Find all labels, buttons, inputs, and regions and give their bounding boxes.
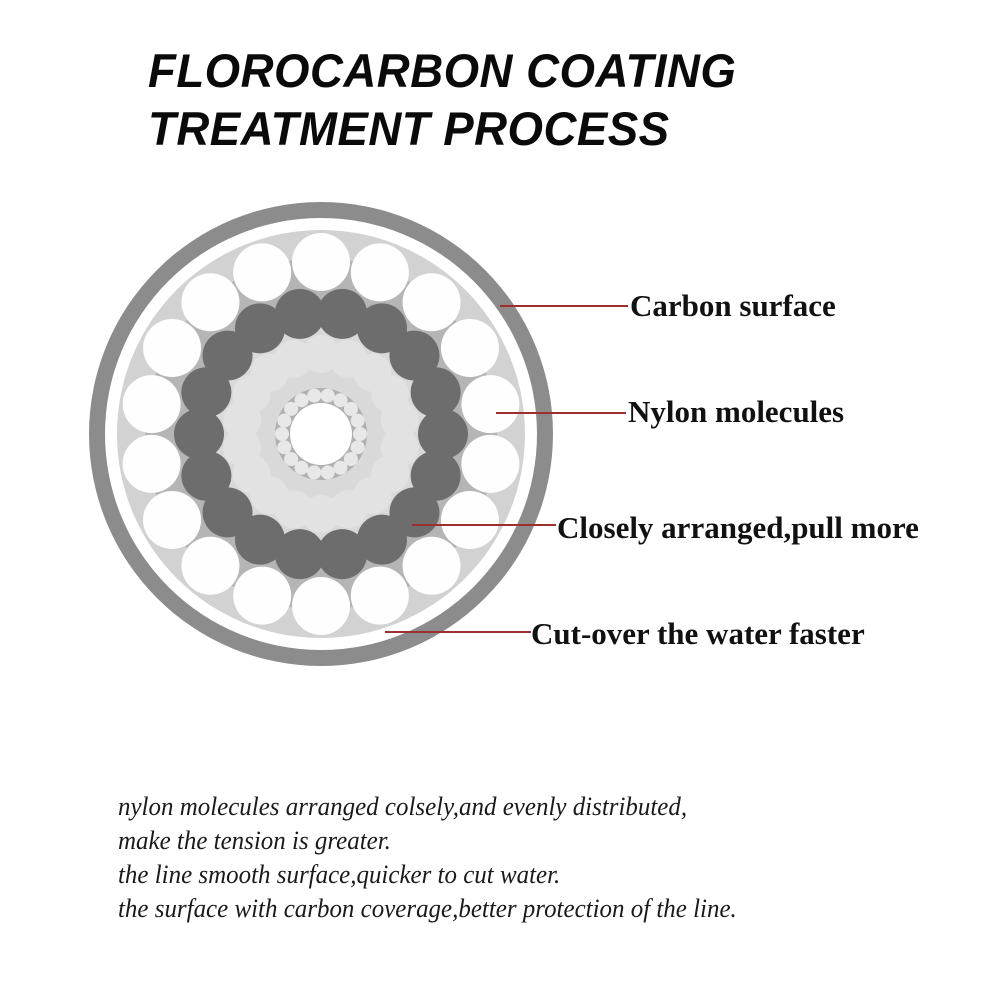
outer-white-ring-molecule [441,319,499,377]
core-tiny-ring-molecule [277,414,291,428]
core-tiny-ring-molecule [321,389,335,403]
leader-line-cut-over-water [385,631,531,633]
title-line-2: TREATMENT PROCESS [148,100,885,158]
callout-label-carbon-surface: Carbon surface [630,290,836,321]
leader-line-closely-arranged [412,524,556,526]
middle-dark-ring-molecule [275,289,325,339]
core-tiny-ring-molecule [284,452,298,466]
core-tiny-ring-molecule [275,427,289,441]
outer-white-ring-molecule [143,491,201,549]
caption-line-2: make the tension is greater. [118,824,905,858]
core-tiny-ring-molecule [344,402,358,416]
outer-white-ring-molecule [441,491,499,549]
outer-white-ring-molecule [181,537,239,595]
outer-white-ring-molecule [351,243,409,301]
middle-dark-ring-molecule [181,451,231,501]
middle-dark-ring-molecule [411,367,461,417]
title-line-1: FLOROCARBON COATING [148,42,885,100]
outer-white-ring-molecule [233,567,291,625]
caption-block: nylon molecules arranged colsely,and eve… [118,790,938,926]
caption-line-3: the line smooth surface,quicker to cut w… [118,858,905,892]
outer-white-ring-molecule [123,375,181,433]
core-tiny-ring-molecule [353,427,367,441]
page-title: FLOROCARBON COATING TREATMENT PROCESS [148,42,908,158]
leader-line-nylon-molecules [496,412,626,414]
fishing-line-cross-section-diagram [78,196,564,682]
outer-white-ring-molecule [143,319,201,377]
middle-dark-ring-molecule [174,409,224,459]
caption-line-1: nylon molecules arranged colsely,and eve… [118,790,905,824]
outer-white-ring-molecule [461,375,519,433]
middle-dark-ring-molecule [418,409,468,459]
outer-white-ring-molecule [403,273,461,331]
core-tiny-ring-molecule [351,414,365,428]
core-tiny-ring-molecule [277,440,291,454]
outer-white-ring-molecule [181,273,239,331]
outer-white-ring-molecule [461,435,519,493]
core-tiny-ring-molecule [334,461,348,475]
caption-line-4: the surface with carbon coverage,better … [118,892,905,926]
leader-line-carbon-surface [500,305,628,307]
callout-label-cut-over-water: Cut-over the water faster [531,618,865,649]
cross-section-svg [78,196,564,682]
outer-white-ring-molecule [292,233,350,291]
outer-white-ring-molecule [292,577,350,635]
callout-label-nylon-molecules: Nylon molecules [628,396,844,427]
outer-white-ring-molecule [403,537,461,595]
outer-white-ring-molecule [233,243,291,301]
inner-pale-ring-molecule [275,340,313,378]
outer-white-ring-molecule [351,567,409,625]
center-core [290,403,352,465]
core-tiny-ring-molecule [307,465,321,479]
core-tiny-ring-molecule [295,393,309,407]
core-tiny-ring-molecule [321,465,335,479]
callout-label-closely-arranged: Closely arranged,pull more [557,512,919,543]
core-tiny-ring-molecule [307,389,321,403]
core-tiny-ring-molecule [351,440,365,454]
outer-white-ring-molecule [123,435,181,493]
